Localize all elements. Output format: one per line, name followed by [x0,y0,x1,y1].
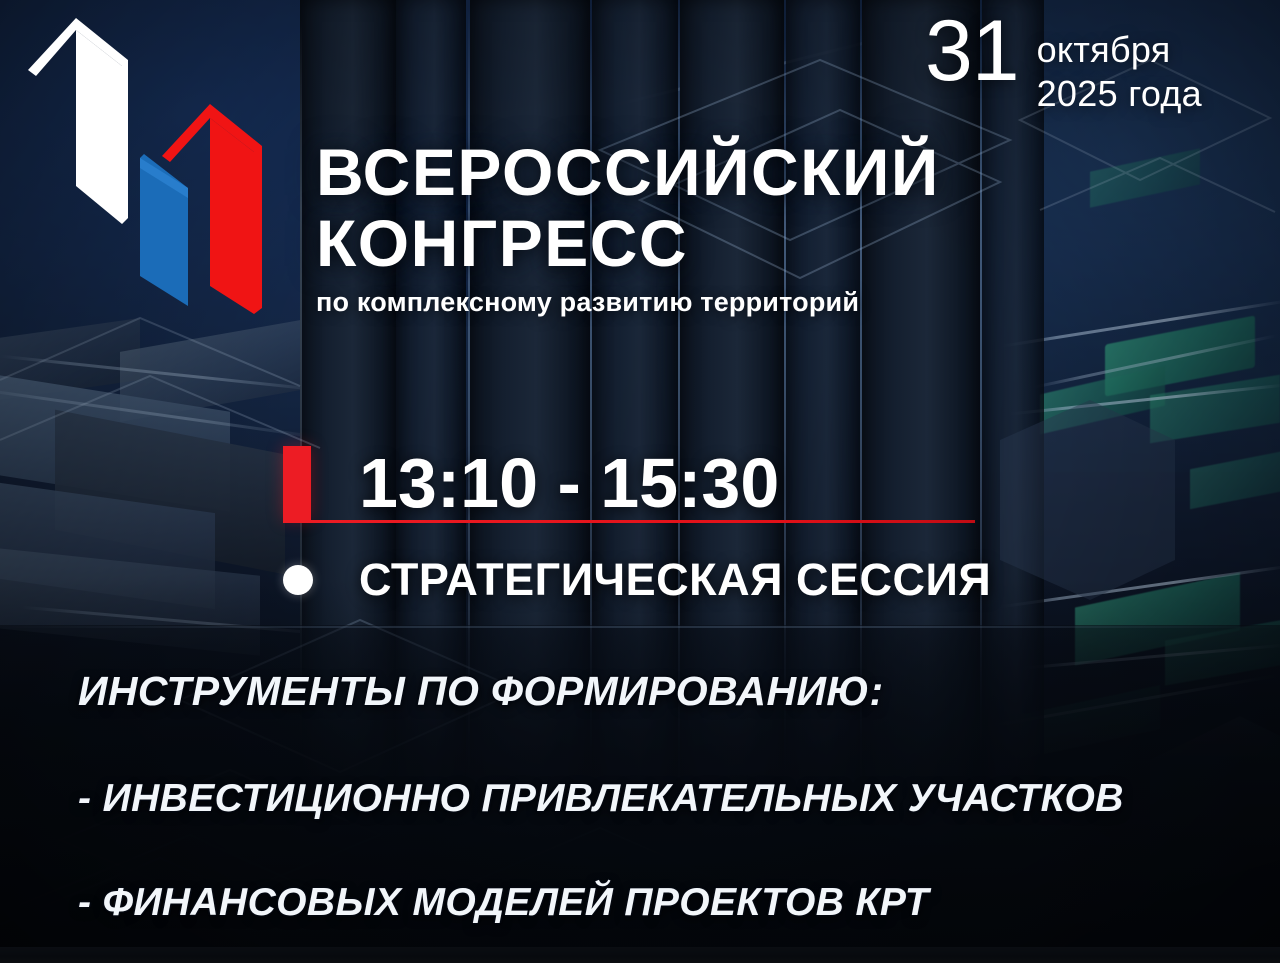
session-name: СТРАТЕГИЧЕСКАЯ СЕССИЯ [359,554,991,606]
congress-logo [10,8,310,338]
session-info: 13:10 - 15:30 СТРАТЕГИЧЕСКАЯ СЕССИЯ [283,446,991,606]
agenda-heading: ИНСТРУМЕНТЫ ПО ФОРМИРОВАНИЮ: [78,668,1258,715]
event-date: 31 октября 2025 года [925,12,1202,116]
title-line-1: ВСЕРОССИЙСКИЙ [316,140,940,205]
agenda-item: - ФИНАНСОВЫХ МОДЕЛЕЙ ПРОЕКТОВ КРТ [78,881,1258,925]
title-subtitle: по комплексному развитию территорий [316,287,940,318]
session-time: 13:10 - 15:30 [359,448,779,518]
red-underline [283,520,975,523]
session-time-row: 13:10 - 15:30 [283,446,991,520]
congress-poster: 31 октября 2025 года ВСЕРОССИЙСКИЙ КОНГР… [0,0,1280,963]
bullet-dot-icon [283,565,313,595]
title-line-2: КОНГРЕСС [316,211,940,276]
background-bottom-bar [0,947,1280,963]
agenda-item: - ИНВЕСТИЦИОННО ПРИВЛЕКАТЕЛЬНЫХ УЧАСТКОВ [78,777,1258,821]
date-month: октября [1037,28,1202,72]
agenda-list: ИНСТРУМЕНТЫ ПО ФОРМИРОВАНИЮ: - ИНВЕСТИЦИ… [78,668,1258,925]
date-day: 31 [925,12,1019,91]
red-accent-bar [283,446,311,520]
buildings-icon [10,8,310,338]
session-name-row: СТРАТЕГИЧЕСКАЯ СЕССИЯ [283,554,991,606]
date-month-year: октября 2025 года [1037,12,1202,116]
congress-title: ВСЕРОССИЙСКИЙ КОНГРЕСС по комплексному р… [316,140,940,318]
logo-shape-red-fill [210,118,254,314]
date-year: 2025 года [1037,72,1202,116]
